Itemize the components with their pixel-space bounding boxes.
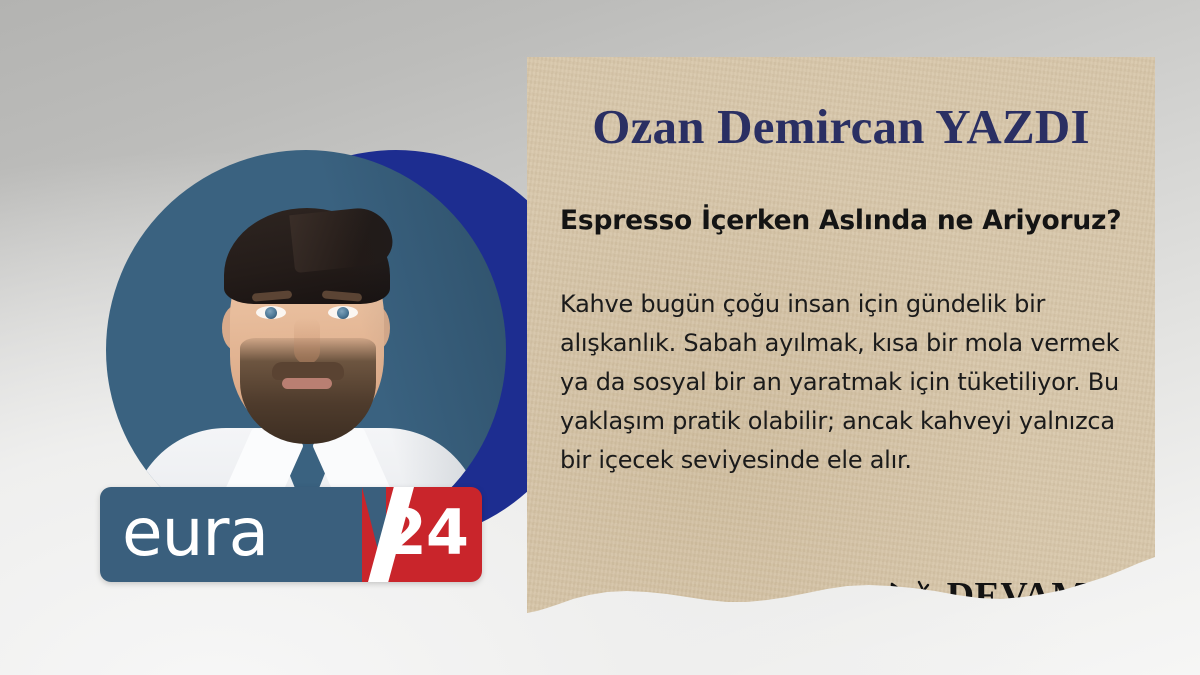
eura24-logo[interactable]: eura 24 — [100, 487, 482, 582]
logo-word: eura — [122, 500, 268, 566]
logo-word-panel: eura — [100, 487, 388, 582]
read-more-link[interactable]: DEVAMI... — [889, 574, 1133, 618]
author-title: Ozan Demircan YAZDI — [527, 98, 1155, 155]
read-more-label: DEVAMI... — [947, 574, 1133, 618]
torn-paper-card: Ozan Demircan YAZDI Espresso İçerken Asl… — [527, 57, 1155, 630]
article-headline: Espresso İçerken Aslında ne Ariyoruz? — [560, 205, 1129, 236]
cursor-arrow-click-icon — [889, 579, 935, 613]
promo-card-canvas: eura 24 Ozan Demircan YAZDI Espresso İçe… — [0, 0, 1200, 675]
article-excerpt: Kahve bugün çoğu insan için gündelik bir… — [560, 285, 1137, 480]
